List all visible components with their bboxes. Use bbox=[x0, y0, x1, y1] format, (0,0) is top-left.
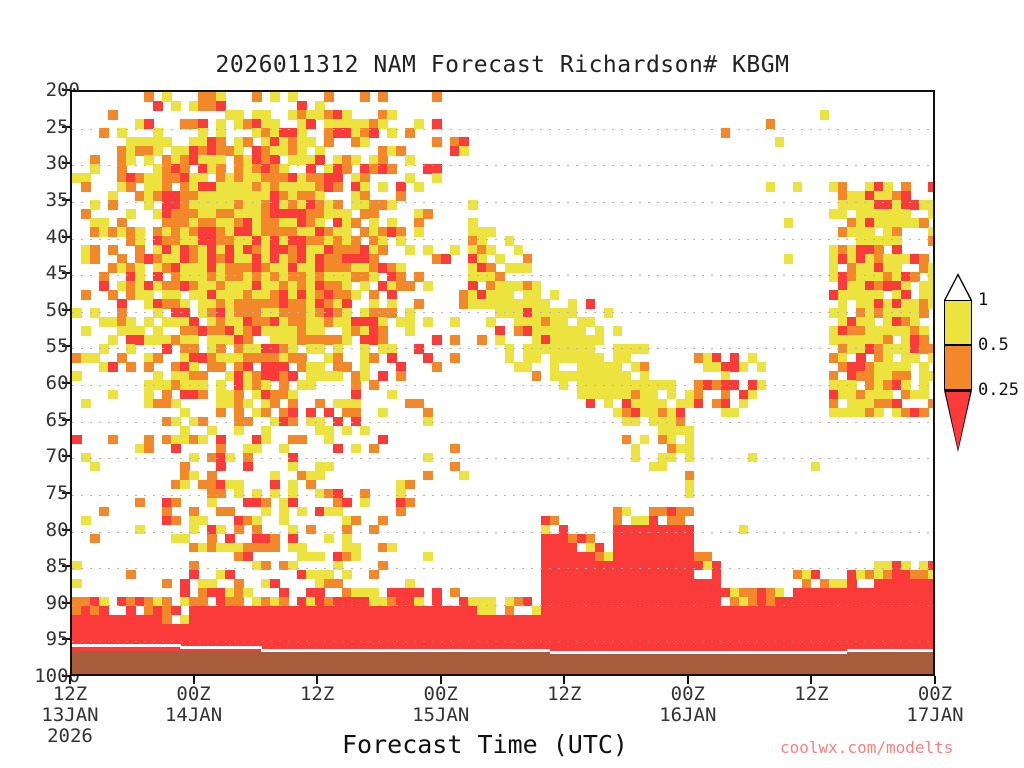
heatmap-cell bbox=[450, 444, 460, 454]
heatmap-cell bbox=[81, 516, 91, 526]
colorbar-over-fill bbox=[946, 276, 971, 300]
heatmap-cell bbox=[396, 507, 406, 517]
heatmap-cell bbox=[171, 498, 181, 508]
heatmap-cell bbox=[90, 534, 100, 544]
y-tick-label: 950 bbox=[0, 628, 80, 650]
heatmap-cell bbox=[793, 182, 803, 192]
heatmap-cell bbox=[171, 444, 181, 454]
heatmap-cell bbox=[405, 281, 415, 291]
y-tick-label: 650 bbox=[0, 409, 80, 431]
heatmap-cell bbox=[685, 507, 695, 517]
heatmap-cell bbox=[811, 462, 821, 472]
heatmap-cell bbox=[144, 444, 154, 454]
heatmap-cell bbox=[261, 435, 271, 445]
x-tick-label: 00Z17JAN bbox=[855, 684, 1015, 726]
heatmap-cell bbox=[108, 435, 118, 445]
x-tick-line: 16JAN bbox=[608, 705, 768, 726]
heatmap-cell bbox=[90, 462, 100, 472]
heatmap-cell bbox=[153, 353, 163, 363]
heatmap-cell bbox=[928, 182, 935, 192]
heatmap-cell bbox=[441, 254, 451, 264]
heatmap-cell bbox=[162, 344, 172, 354]
heatmap-cell bbox=[369, 353, 379, 363]
heatmap-cell bbox=[586, 399, 596, 409]
heatmap-cell bbox=[604, 308, 614, 318]
heatmap-cell bbox=[216, 408, 226, 418]
surface-line bbox=[928, 649, 935, 652]
heatmap-cell bbox=[369, 380, 379, 390]
heatmap-cell bbox=[90, 254, 100, 264]
heatmap-cell bbox=[243, 417, 253, 427]
heatmap-cell bbox=[595, 335, 605, 345]
heatmap-cell bbox=[378, 245, 388, 255]
heatmap-cell bbox=[198, 435, 208, 445]
heatmap-cell bbox=[252, 444, 262, 454]
heatmap-cell bbox=[216, 489, 226, 499]
heatmap-cell bbox=[532, 353, 542, 363]
heatmap-cell bbox=[360, 92, 370, 102]
heatmap-cell bbox=[360, 426, 370, 436]
heatmap-cell bbox=[928, 299, 935, 309]
heatmap-cell bbox=[297, 435, 307, 445]
heatmap-cell bbox=[189, 453, 199, 463]
heatmap-cell bbox=[396, 191, 406, 201]
heatmap-cell bbox=[387, 200, 397, 210]
heatmap-cell bbox=[72, 308, 82, 318]
heatmap-cell bbox=[748, 390, 758, 400]
heatmap-cell bbox=[324, 137, 334, 147]
heatmap-cell bbox=[153, 101, 163, 111]
heatmap-cell bbox=[108, 110, 118, 120]
heatmap-cell bbox=[784, 254, 794, 264]
heatmap-cell bbox=[360, 137, 370, 147]
heatmap-cell bbox=[423, 417, 433, 427]
heatmap-cell bbox=[216, 462, 226, 472]
heatmap-cell bbox=[459, 471, 469, 481]
heatmap-cell bbox=[81, 326, 91, 336]
y-tick-label: 500 bbox=[0, 299, 80, 321]
heatmap-cell bbox=[928, 371, 935, 381]
heatmap-cell bbox=[784, 218, 794, 228]
heatmap-cell bbox=[730, 408, 740, 418]
heatmap-cell bbox=[694, 399, 704, 409]
x-tick-line: 15JAN bbox=[361, 705, 521, 726]
heatmap-cell bbox=[423, 552, 433, 562]
heatmap-cell bbox=[450, 335, 460, 345]
heatmap-cell bbox=[423, 453, 433, 463]
heatmap-cell bbox=[108, 200, 118, 210]
x-tick-line: 17JAN bbox=[855, 705, 1015, 726]
heatmap-cell bbox=[135, 525, 145, 535]
y-tick-label: 600 bbox=[0, 372, 80, 394]
heatmap-cell bbox=[423, 317, 433, 327]
heatmap-cell bbox=[748, 453, 758, 463]
heatmap-cell bbox=[658, 462, 668, 472]
heatmap-cell bbox=[631, 453, 641, 463]
heatmap-cell bbox=[613, 326, 623, 336]
heatmap-cell bbox=[315, 471, 325, 481]
chart-title: 2026011312 NAM Forecast Richardson# KBGM bbox=[35, 52, 970, 78]
heatmap-cell bbox=[261, 561, 271, 571]
heatmap-cell bbox=[405, 128, 415, 138]
y-tick-label: 700 bbox=[0, 445, 80, 467]
heatmap-cell bbox=[126, 155, 136, 165]
heatmap-cell bbox=[667, 453, 677, 463]
heatmap-cell bbox=[721, 128, 731, 138]
plot-area bbox=[70, 90, 935, 676]
heatmap-cell bbox=[72, 579, 82, 589]
heatmap-cell bbox=[351, 516, 361, 526]
heatmap-cell bbox=[450, 245, 460, 255]
heatmap-cell bbox=[423, 471, 433, 481]
heatmap-cell bbox=[306, 525, 316, 535]
heatmap-cell bbox=[432, 362, 442, 372]
heatmap-cell bbox=[324, 534, 334, 544]
y-tick-label: 250 bbox=[0, 116, 80, 138]
heatmap-cell bbox=[135, 498, 145, 508]
heatmap-cell bbox=[640, 344, 650, 354]
heatmap-cell bbox=[405, 245, 415, 255]
heatmap-cell bbox=[405, 326, 415, 336]
y-tick-label: 750 bbox=[0, 482, 80, 504]
heatmap-cell bbox=[820, 110, 830, 120]
heatmap-cell bbox=[378, 561, 388, 571]
heatmap-cell bbox=[108, 390, 118, 400]
heatmap-cell bbox=[306, 119, 316, 129]
heatmap-cell bbox=[387, 543, 397, 553]
heatmap-cell bbox=[387, 390, 397, 400]
heatmap-cell bbox=[450, 317, 460, 327]
heatmap-cell bbox=[171, 101, 181, 111]
heatmap-cell bbox=[234, 525, 244, 535]
heatmap-cell bbox=[378, 371, 388, 381]
heatmap-cell bbox=[477, 335, 487, 345]
heatmap-cell bbox=[297, 507, 307, 517]
heatmap-cell bbox=[126, 362, 136, 372]
heatmap-cell bbox=[342, 570, 352, 580]
heatmap-cell bbox=[270, 543, 280, 553]
heatmap-cell bbox=[757, 380, 767, 390]
heatmap-cell bbox=[766, 182, 776, 192]
heatmap-cell bbox=[126, 570, 136, 580]
heatmap-cell bbox=[414, 227, 424, 237]
heatmap-cell bbox=[757, 362, 767, 372]
heatmap-cell bbox=[432, 119, 442, 129]
heatmap-cell bbox=[378, 516, 388, 526]
heatmap-cell bbox=[387, 110, 397, 120]
heatmap-cell bbox=[396, 371, 406, 381]
y-tick-label: 300 bbox=[0, 152, 80, 174]
heatmap-cell bbox=[333, 371, 343, 381]
heatmap-cell bbox=[171, 516, 181, 526]
heatmap-cell bbox=[414, 299, 424, 309]
heatmap-cell bbox=[81, 182, 91, 192]
heatmap-cell bbox=[766, 119, 776, 129]
heatmap-cell bbox=[423, 281, 433, 291]
heatmap-cell bbox=[351, 444, 361, 454]
heatmap-cell bbox=[333, 444, 343, 454]
y-tick-label: 200 bbox=[0, 79, 80, 101]
heatmap-cell bbox=[369, 444, 379, 454]
heatmap-cell bbox=[234, 426, 244, 436]
heatmap-cell bbox=[405, 498, 415, 508]
heatmap-cell bbox=[739, 399, 749, 409]
colorbar-label: 1 bbox=[978, 290, 988, 310]
heatmap-cell bbox=[414, 182, 424, 192]
heatmap-cell bbox=[369, 525, 379, 535]
colorbar-label: 0.5 bbox=[978, 335, 1009, 355]
heatmap-cell bbox=[90, 164, 100, 174]
heatmap-cell bbox=[423, 209, 433, 219]
heatmap-cell bbox=[631, 417, 641, 427]
heatmap-cell bbox=[360, 498, 370, 508]
chart-root: 2026011312 NAM Forecast Richardson# KBGM… bbox=[0, 0, 1024, 768]
heatmap-cell bbox=[550, 290, 560, 300]
heatmap-cell bbox=[532, 371, 542, 381]
heatmap-cell bbox=[99, 128, 109, 138]
heatmap-cell bbox=[739, 525, 749, 535]
y-tick-label: 350 bbox=[0, 189, 80, 211]
heatmap-cell bbox=[928, 236, 935, 246]
heatmap-cell bbox=[126, 344, 136, 354]
heatmap-cell bbox=[369, 570, 379, 580]
terrain-cell bbox=[928, 669, 935, 676]
heatmap-cell bbox=[432, 137, 442, 147]
heatmap-cell bbox=[387, 128, 397, 138]
heatmap-cell bbox=[586, 299, 596, 309]
heatmap-cell bbox=[378, 408, 388, 418]
heatmap-cell bbox=[378, 435, 388, 445]
heatmap-cell bbox=[432, 335, 442, 345]
x-tick-line: 2026 bbox=[0, 726, 150, 747]
heatmap-cell bbox=[99, 344, 109, 354]
heatmap-cell bbox=[108, 335, 118, 345]
heatmap-cell bbox=[459, 146, 469, 156]
heatmap-cell bbox=[685, 453, 695, 463]
watermark: coolwx.com/modelts bbox=[780, 738, 1020, 757]
heatmap-cell bbox=[378, 92, 388, 102]
heatmap-cell bbox=[378, 182, 388, 192]
heatmap-cell bbox=[432, 92, 442, 102]
x-tick-line: 14JAN bbox=[114, 705, 274, 726]
colorbar: 10.50.25 bbox=[944, 300, 974, 470]
y-tick-label: 800 bbox=[0, 519, 80, 541]
heatmap-cell bbox=[198, 390, 208, 400]
heatmap-cell bbox=[919, 308, 929, 318]
x-tick-line: 00Z bbox=[855, 684, 1015, 705]
heatmap-cell bbox=[243, 462, 253, 472]
heatmap-cell bbox=[81, 290, 91, 300]
heatmap-cell bbox=[81, 399, 91, 409]
heatmap-cell bbox=[324, 462, 334, 472]
heatmap-cell bbox=[928, 399, 935, 409]
heatmap-cell bbox=[333, 182, 343, 192]
heatmap-cell bbox=[559, 380, 569, 390]
heatmap-cell bbox=[351, 290, 361, 300]
heatmap-cell bbox=[324, 92, 334, 102]
colorbar-segment-yellow bbox=[944, 300, 972, 345]
heatmap-cell bbox=[342, 335, 352, 345]
heatmap-cell bbox=[685, 489, 695, 499]
heatmap-cell bbox=[315, 552, 325, 562]
heatmap-cell bbox=[775, 137, 785, 147]
heatmap-cell bbox=[387, 164, 397, 174]
heatmap-cell bbox=[468, 200, 478, 210]
heatmap-cell bbox=[369, 128, 379, 138]
y-tick-label: 550 bbox=[0, 335, 80, 357]
heatmap-cell bbox=[162, 579, 172, 589]
heatmap-cell bbox=[874, 408, 884, 418]
heatmap-cell bbox=[72, 371, 82, 381]
colorbar-segment-orange bbox=[944, 345, 972, 390]
heatmap-cell bbox=[739, 362, 749, 372]
heatmap-cell bbox=[414, 119, 424, 129]
heatmap-cell bbox=[405, 155, 415, 165]
colorbar-label: 0.25 bbox=[978, 380, 1019, 400]
heatmap-cell bbox=[180, 480, 190, 490]
heatmap-cell bbox=[270, 92, 280, 102]
heatmap-cell bbox=[90, 200, 100, 210]
heatmap-cell bbox=[640, 435, 650, 445]
heatmap-cell bbox=[928, 353, 935, 363]
heatmap-cell bbox=[342, 498, 352, 508]
y-tick-label: 850 bbox=[0, 555, 80, 577]
heatmap-cell bbox=[523, 263, 533, 273]
y-tick-label: 400 bbox=[0, 226, 80, 248]
heatmap-cells bbox=[72, 92, 933, 674]
heatmap-cell bbox=[261, 507, 271, 517]
heatmap-cell bbox=[405, 480, 415, 490]
heatmap-cell bbox=[72, 435, 82, 445]
heatmap-cell bbox=[72, 561, 82, 571]
heatmap-cell bbox=[126, 209, 136, 219]
colorbar-under-fill bbox=[946, 392, 971, 450]
heatmap-cell bbox=[225, 453, 235, 463]
heatmap-cell bbox=[189, 525, 199, 535]
heatmap-cell bbox=[342, 426, 352, 436]
heatmap-cell bbox=[288, 417, 298, 427]
heatmap-cell bbox=[351, 552, 361, 562]
heatmap-cell bbox=[486, 227, 496, 237]
y-tick-label: 900 bbox=[0, 592, 80, 614]
y-tick-label: 450 bbox=[0, 262, 80, 284]
heatmap-cell bbox=[450, 353, 460, 363]
heatmap-cell bbox=[108, 362, 118, 372]
heatmap-cell bbox=[252, 92, 262, 102]
heatmap-cell bbox=[432, 173, 442, 183]
heatmap-cell bbox=[919, 408, 929, 418]
x-axis-title: Forecast Time (UTC) bbox=[250, 730, 720, 759]
heatmap-cell bbox=[928, 209, 935, 219]
heatmap-cell bbox=[306, 380, 316, 390]
heatmap-cell bbox=[99, 507, 109, 517]
